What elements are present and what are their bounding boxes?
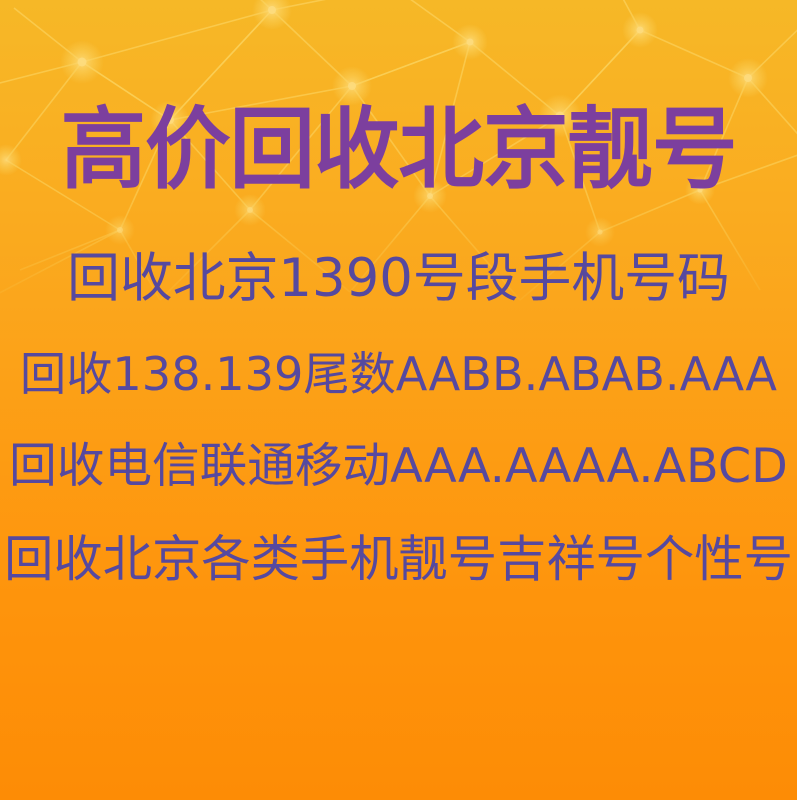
poster-canvas: 高价回收北京靓号 回收北京1390号段手机号码 回收138.139尾数AABB.… <box>0 0 797 800</box>
body-line-4: 回收北京各类手机靓号吉祥号个性号 <box>0 531 797 588</box>
body-line-3: 回收电信联通移动AAA.AAAA.ABCD <box>0 438 797 495</box>
poster-headline: 高价回收北京靓号 <box>0 106 797 192</box>
body-line-1: 回收北京1390号段手机号码 <box>0 252 797 306</box>
headline-text: 高价回收北京靓号 <box>61 106 737 195</box>
body-line-2: 回收138.139尾数AABB.ABAB.AAA <box>0 346 797 402</box>
poster-body-lines: 回收北京1390号段手机号码 回收138.139尾数AABB.ABAB.AAA … <box>0 252 797 588</box>
